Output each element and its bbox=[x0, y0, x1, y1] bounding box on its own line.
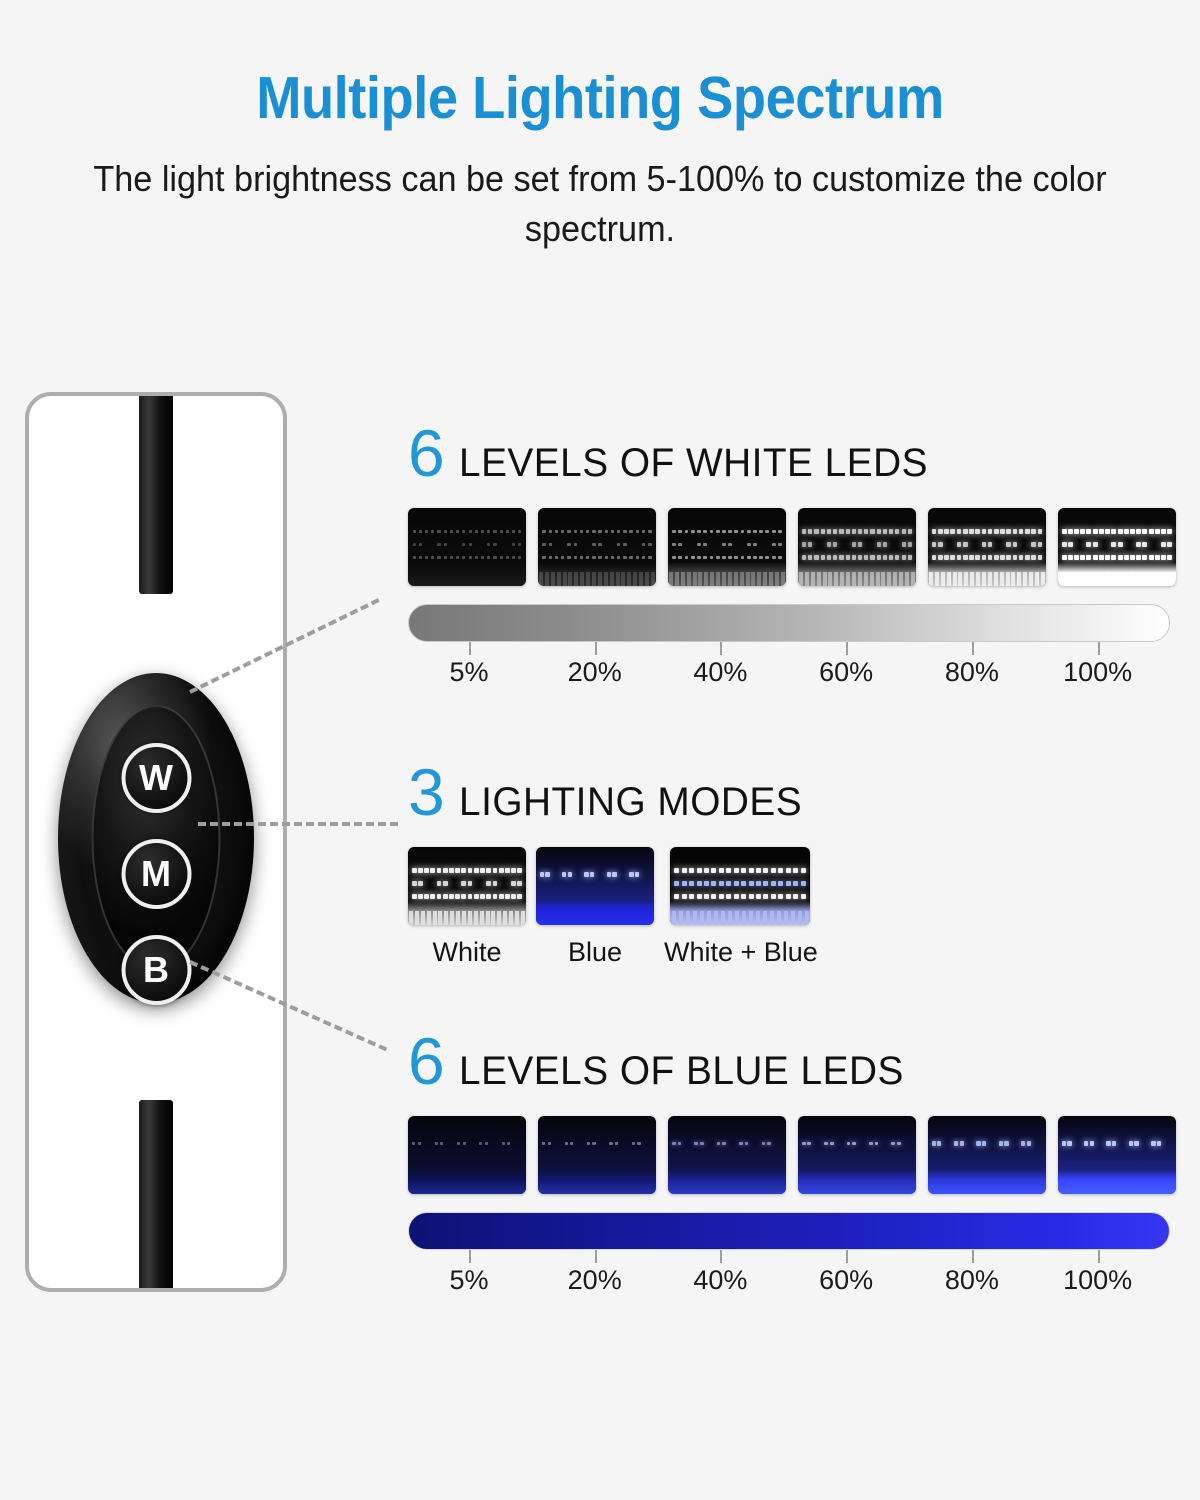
reflection-tine bbox=[953, 572, 957, 586]
led-dot bbox=[1106, 1141, 1111, 1146]
led-dot bbox=[561, 556, 564, 559]
led-row bbox=[670, 880, 810, 887]
mode-button[interactable]: M bbox=[121, 839, 191, 909]
led-dot bbox=[682, 894, 687, 899]
reflection-tine bbox=[735, 911, 739, 925]
led-dot bbox=[1025, 555, 1030, 560]
reflection-tine bbox=[610, 572, 614, 586]
led-dot bbox=[719, 894, 724, 899]
reflection-tine bbox=[976, 572, 980, 586]
led-dot bbox=[678, 543, 682, 547]
led-dot bbox=[437, 543, 440, 546]
blue-button[interactable]: B bbox=[121, 935, 191, 1005]
led-dot bbox=[932, 529, 937, 534]
led-dot bbox=[753, 530, 757, 534]
led-dot bbox=[1000, 529, 1005, 534]
led-dot bbox=[975, 529, 980, 534]
led-grid bbox=[538, 1140, 656, 1174]
led-row bbox=[1058, 554, 1176, 561]
blue-gradient-bar[interactable] bbox=[408, 1212, 1170, 1250]
scale-label: 60% bbox=[819, 1265, 873, 1296]
reflection-tine bbox=[1035, 572, 1039, 586]
section-white-levels: 6 LEVELS OF WHITE LEDS 5%20%40%60%80%100… bbox=[408, 420, 1170, 697]
led-dot bbox=[1000, 555, 1005, 560]
led-dot bbox=[1155, 555, 1160, 560]
led-dot bbox=[685, 556, 689, 560]
led-dot bbox=[418, 1142, 421, 1145]
led-reflection bbox=[928, 1170, 1046, 1194]
led-dot bbox=[745, 1142, 749, 1146]
led-dot bbox=[590, 872, 595, 877]
led-dot bbox=[908, 555, 912, 559]
reflection-tine bbox=[1118, 572, 1122, 586]
led-dot bbox=[636, 556, 639, 559]
led-dot bbox=[1136, 542, 1141, 547]
led-row bbox=[928, 528, 1046, 535]
led-dot bbox=[450, 556, 453, 559]
led-dot bbox=[771, 868, 776, 873]
reflection-tine bbox=[911, 572, 915, 586]
led-dot bbox=[512, 543, 515, 546]
reflection-tine bbox=[1147, 572, 1151, 586]
led-thumbnail bbox=[798, 508, 916, 586]
led-dot bbox=[1151, 1141, 1156, 1146]
led-row bbox=[928, 1140, 1046, 1147]
blue-levels-title: LEVELS OF BLUE LEDS bbox=[459, 1049, 904, 1094]
led-dot bbox=[511, 868, 516, 873]
led-dot bbox=[814, 529, 818, 533]
led-dot bbox=[741, 894, 746, 899]
led-dot bbox=[1038, 555, 1043, 560]
led-dot bbox=[802, 542, 806, 546]
led-dot bbox=[710, 530, 714, 534]
led-dot bbox=[969, 555, 974, 560]
reflection-tine bbox=[604, 572, 608, 586]
led-dot bbox=[1161, 555, 1166, 560]
led-dot bbox=[1130, 529, 1135, 534]
reflection-tine bbox=[1011, 572, 1015, 586]
led-dot bbox=[507, 1142, 510, 1145]
led-dot bbox=[717, 1142, 721, 1146]
led-dot bbox=[827, 555, 831, 559]
led-dot bbox=[1031, 555, 1036, 560]
led-row bbox=[798, 1140, 916, 1147]
reflection-tine bbox=[964, 572, 968, 586]
led-dot bbox=[877, 555, 881, 559]
led-dot bbox=[908, 542, 912, 546]
led-row bbox=[1058, 528, 1176, 535]
led-thumbnail bbox=[538, 1116, 656, 1194]
led-dot bbox=[1062, 529, 1067, 534]
led-dot bbox=[722, 556, 726, 560]
reflection-tine bbox=[1071, 572, 1075, 586]
led-row bbox=[798, 528, 916, 535]
led-grid bbox=[1058, 1140, 1176, 1174]
reflection-tine bbox=[450, 911, 454, 925]
led-row bbox=[408, 541, 526, 548]
led-dot bbox=[493, 881, 498, 886]
reflection-tines bbox=[670, 911, 810, 925]
led-dot bbox=[1074, 555, 1079, 560]
led-dot bbox=[635, 872, 640, 877]
mode-item[interactable]: White bbox=[408, 847, 526, 968]
led-dot bbox=[1130, 555, 1135, 560]
reflection-tine bbox=[438, 911, 442, 925]
led-dot bbox=[475, 530, 478, 533]
led-dot bbox=[512, 530, 515, 533]
led-dot bbox=[540, 872, 545, 877]
led-dot bbox=[493, 530, 496, 533]
led-dot bbox=[486, 894, 491, 899]
led-dot bbox=[741, 881, 746, 886]
led-dot bbox=[786, 894, 791, 899]
led-dot bbox=[1111, 555, 1116, 560]
led-dot bbox=[493, 543, 496, 546]
led-dot bbox=[440, 1142, 443, 1145]
led-dot bbox=[895, 555, 899, 559]
led-dot bbox=[481, 556, 484, 559]
reflection-tine bbox=[1153, 572, 1157, 586]
led-dot bbox=[1013, 555, 1018, 560]
led-dot bbox=[506, 530, 509, 533]
led-thumbnail bbox=[1058, 508, 1176, 586]
led-grid bbox=[798, 528, 916, 562]
mode-item[interactable]: White + Blue bbox=[664, 847, 816, 968]
led-grid bbox=[928, 1140, 1046, 1174]
white-button[interactable]: W bbox=[121, 743, 191, 813]
led-dot bbox=[413, 530, 416, 533]
led-dot bbox=[623, 530, 626, 533]
led-dot bbox=[469, 556, 472, 559]
led-dot bbox=[418, 894, 423, 899]
led-dot bbox=[1093, 529, 1098, 534]
scale-label: 5% bbox=[449, 657, 488, 688]
reflection-tines bbox=[928, 572, 1046, 586]
led-dot bbox=[741, 556, 745, 560]
led-dot bbox=[734, 530, 738, 534]
led-dot bbox=[678, 1142, 682, 1146]
led-dot bbox=[963, 555, 968, 560]
led-dot bbox=[629, 872, 634, 877]
led-dot bbox=[969, 529, 974, 534]
reflection-tine bbox=[686, 911, 690, 925]
led-dot bbox=[449, 868, 454, 873]
led-dot bbox=[413, 556, 416, 559]
controller-card: W M B bbox=[25, 392, 287, 1292]
reflection-tine bbox=[1029, 572, 1033, 586]
blue-scale-labels: 5%20%40%60%80%100% bbox=[408, 1265, 1170, 1305]
led-dot bbox=[542, 1142, 545, 1145]
remote-inner-panel: W M B bbox=[92, 705, 221, 971]
reflection-tine bbox=[905, 572, 909, 586]
led-dot bbox=[704, 868, 709, 873]
led-dot bbox=[455, 894, 460, 899]
reflection-tine bbox=[1094, 572, 1098, 586]
led-dot bbox=[1086, 542, 1091, 547]
cord-top bbox=[139, 394, 173, 594]
led-dot bbox=[574, 543, 577, 546]
led-dot bbox=[741, 530, 745, 534]
led-dot bbox=[568, 872, 573, 877]
led-dot bbox=[623, 543, 626, 546]
led-dot bbox=[778, 881, 783, 886]
led-dot bbox=[685, 530, 689, 534]
led-dot bbox=[852, 555, 856, 559]
reflection-tine bbox=[681, 572, 685, 586]
reflection-tine bbox=[775, 572, 779, 586]
led-dot bbox=[722, 530, 726, 534]
led-dot bbox=[722, 543, 726, 547]
led-dot bbox=[1090, 1141, 1095, 1146]
led-row bbox=[668, 528, 786, 535]
reflection-tine bbox=[988, 572, 992, 586]
led-dot bbox=[505, 868, 510, 873]
led-dot bbox=[711, 868, 716, 873]
led-dot bbox=[801, 881, 806, 886]
led-dot bbox=[615, 1142, 618, 1145]
led-dot bbox=[629, 530, 632, 533]
reflection-tine bbox=[698, 572, 702, 586]
led-dot bbox=[1062, 555, 1067, 560]
led-reflection bbox=[668, 1170, 786, 1194]
reflection-tine bbox=[456, 911, 460, 925]
led-dot bbox=[617, 543, 620, 546]
led-dot bbox=[1099, 555, 1104, 560]
led-dot bbox=[902, 542, 906, 546]
led-dot bbox=[468, 881, 473, 886]
reflection-tines bbox=[1058, 572, 1176, 586]
reflection-tine bbox=[721, 911, 725, 925]
led-dot bbox=[598, 556, 601, 559]
led-dot bbox=[617, 530, 620, 533]
led-dot bbox=[605, 556, 608, 559]
led-dot bbox=[682, 881, 687, 886]
led-dot bbox=[493, 894, 498, 899]
led-dot bbox=[648, 543, 651, 546]
reflection-tine bbox=[651, 572, 655, 586]
scale-tick bbox=[469, 1250, 471, 1263]
led-thumbnail bbox=[928, 1116, 1046, 1194]
led-thumbnail bbox=[668, 508, 786, 586]
led-dot bbox=[574, 556, 577, 559]
reflection-tine bbox=[769, 572, 773, 586]
led-dot bbox=[567, 530, 570, 533]
led-row bbox=[408, 880, 526, 887]
led-dot bbox=[749, 868, 754, 873]
reflection-tine bbox=[958, 572, 962, 586]
reflection-tine bbox=[645, 572, 649, 586]
led-dot bbox=[704, 881, 709, 886]
reflection-tine bbox=[742, 911, 746, 925]
led-dot bbox=[827, 529, 831, 533]
scale-tick bbox=[595, 1250, 597, 1263]
reflection-tine bbox=[592, 572, 596, 586]
led-dot bbox=[697, 894, 702, 899]
led-dot bbox=[772, 543, 776, 547]
led-dot bbox=[802, 529, 806, 533]
led-grid bbox=[538, 528, 656, 562]
led-dot bbox=[456, 530, 459, 533]
led-dot bbox=[493, 556, 496, 559]
reflection-tine bbox=[763, 572, 767, 586]
reflection-tine bbox=[1130, 572, 1134, 586]
reflection-tine bbox=[679, 911, 683, 925]
led-dot bbox=[555, 530, 558, 533]
led-dot bbox=[1019, 555, 1024, 560]
led-dot bbox=[763, 881, 768, 886]
led-dot bbox=[682, 868, 687, 873]
led-dot bbox=[549, 556, 552, 559]
led-thumbnail bbox=[538, 508, 656, 586]
led-dot bbox=[444, 530, 447, 533]
led-dot bbox=[461, 894, 466, 899]
reflection-tine bbox=[893, 572, 897, 586]
reflection-tine bbox=[669, 572, 673, 586]
led-dot bbox=[694, 1142, 698, 1146]
reflection-tine bbox=[503, 911, 507, 925]
led-dot bbox=[502, 1142, 505, 1145]
led-dot bbox=[976, 1141, 980, 1145]
led-dot bbox=[443, 881, 448, 886]
reflection-tine bbox=[777, 911, 781, 925]
mode-item[interactable]: Blue bbox=[536, 847, 654, 968]
led-dot bbox=[1006, 529, 1011, 534]
reflection-tine bbox=[763, 911, 767, 925]
led-row bbox=[538, 541, 656, 548]
led-row bbox=[408, 554, 526, 561]
led-dot bbox=[1118, 555, 1123, 560]
led-dot bbox=[437, 868, 442, 873]
led-row bbox=[798, 554, 916, 561]
led-dot bbox=[778, 543, 782, 547]
led-dot bbox=[891, 1142, 895, 1146]
led-dot bbox=[716, 530, 720, 534]
led-dot bbox=[461, 881, 466, 886]
led-row bbox=[668, 554, 786, 561]
reflection-tine bbox=[929, 572, 933, 586]
led-dot bbox=[858, 529, 862, 533]
reflection-tine bbox=[586, 572, 590, 586]
led-dot bbox=[704, 894, 709, 899]
reflection-tine bbox=[846, 572, 850, 586]
led-dot bbox=[1129, 1141, 1134, 1146]
led-dot bbox=[889, 555, 893, 559]
led-dot bbox=[1019, 529, 1024, 534]
scale-tick bbox=[846, 642, 848, 655]
reflection-tines bbox=[668, 572, 786, 586]
reflection-tine bbox=[1006, 572, 1010, 586]
led-dot bbox=[937, 1141, 941, 1145]
reflection-tine bbox=[509, 911, 513, 925]
led-dot bbox=[617, 556, 620, 559]
reflection-tine bbox=[462, 911, 466, 925]
led-dot bbox=[419, 543, 422, 546]
led-dot bbox=[469, 530, 472, 533]
reflection-tine bbox=[770, 911, 774, 925]
white-gradient-bar[interactable] bbox=[408, 604, 1170, 642]
led-dot bbox=[672, 1142, 676, 1146]
led-dot bbox=[895, 529, 899, 533]
led-dot bbox=[463, 1142, 466, 1145]
reflection-tine bbox=[693, 911, 697, 925]
reflection-tine bbox=[798, 911, 802, 925]
reflection-tine bbox=[1023, 572, 1027, 586]
led-dot bbox=[586, 530, 589, 533]
led-dot bbox=[418, 868, 423, 873]
reflection-tines bbox=[538, 572, 656, 586]
led-grid bbox=[408, 1140, 526, 1174]
led-dot bbox=[431, 556, 434, 559]
reflection-tine bbox=[557, 572, 561, 586]
led-dot bbox=[444, 556, 447, 559]
led-dot bbox=[425, 530, 428, 533]
scale-label: 100% bbox=[1063, 657, 1132, 688]
reflection-tine bbox=[781, 572, 785, 586]
led-dot bbox=[1099, 529, 1104, 534]
led-dot bbox=[450, 530, 453, 533]
led-dot bbox=[975, 555, 980, 560]
reflection-tine bbox=[1136, 572, 1140, 586]
led-dot bbox=[468, 868, 473, 873]
led-dot bbox=[412, 881, 417, 886]
led-grid bbox=[1058, 528, 1176, 562]
led-dot bbox=[1080, 555, 1085, 560]
led-dot bbox=[1038, 529, 1043, 534]
led-dot bbox=[988, 555, 993, 560]
led-dot bbox=[499, 894, 504, 899]
led-dot bbox=[747, 543, 751, 547]
led-thumbnail bbox=[798, 1116, 916, 1194]
led-dot bbox=[481, 530, 484, 533]
led-dot bbox=[957, 555, 962, 560]
led-dot bbox=[999, 1141, 1003, 1145]
led-dot bbox=[902, 529, 906, 533]
led-dot bbox=[443, 868, 448, 873]
led-dot bbox=[763, 894, 768, 899]
reflection-tine bbox=[852, 572, 856, 586]
led-dot bbox=[542, 543, 545, 546]
led-grid bbox=[670, 867, 810, 901]
led-dot bbox=[474, 868, 479, 873]
led-dot bbox=[419, 530, 422, 533]
led-dot bbox=[475, 556, 478, 559]
reflection-tine bbox=[693, 572, 697, 586]
led-dot bbox=[963, 542, 968, 547]
scale-label: 100% bbox=[1063, 1265, 1132, 1296]
led-dot bbox=[821, 555, 825, 559]
led-grid bbox=[408, 528, 526, 562]
led-dot bbox=[870, 555, 874, 559]
reflection-tine bbox=[704, 572, 708, 586]
led-dot bbox=[437, 894, 442, 899]
led-dot bbox=[963, 529, 968, 534]
led-dot bbox=[711, 894, 716, 899]
led-dot bbox=[772, 530, 776, 534]
led-dot bbox=[549, 530, 552, 533]
led-dot bbox=[1105, 529, 1110, 534]
reflection-tine bbox=[580, 572, 584, 586]
led-dot bbox=[830, 1142, 834, 1146]
reflection-tine bbox=[784, 911, 788, 925]
led-dot bbox=[697, 530, 701, 534]
led-dot bbox=[824, 1142, 828, 1146]
reflection-tine bbox=[598, 572, 602, 586]
led-dot bbox=[430, 868, 435, 873]
reflection-tine bbox=[746, 572, 750, 586]
scale-tick bbox=[972, 642, 974, 655]
scale-label: 20% bbox=[568, 657, 622, 688]
led-dot bbox=[719, 881, 724, 886]
